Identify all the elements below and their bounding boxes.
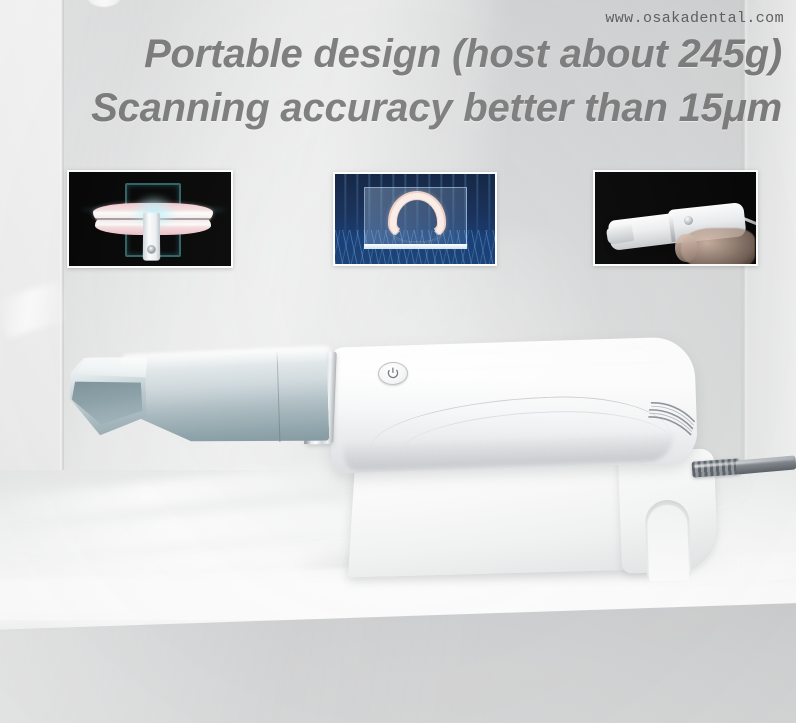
scanner-vent-grille [647,391,705,441]
product-banner: www.osakadental.com Portable design (hos… [0,0,796,723]
power-icon [386,367,400,380]
scanner-base-hook-gap [647,504,690,581]
intraoral-scanner-product-image [0,0,796,723]
